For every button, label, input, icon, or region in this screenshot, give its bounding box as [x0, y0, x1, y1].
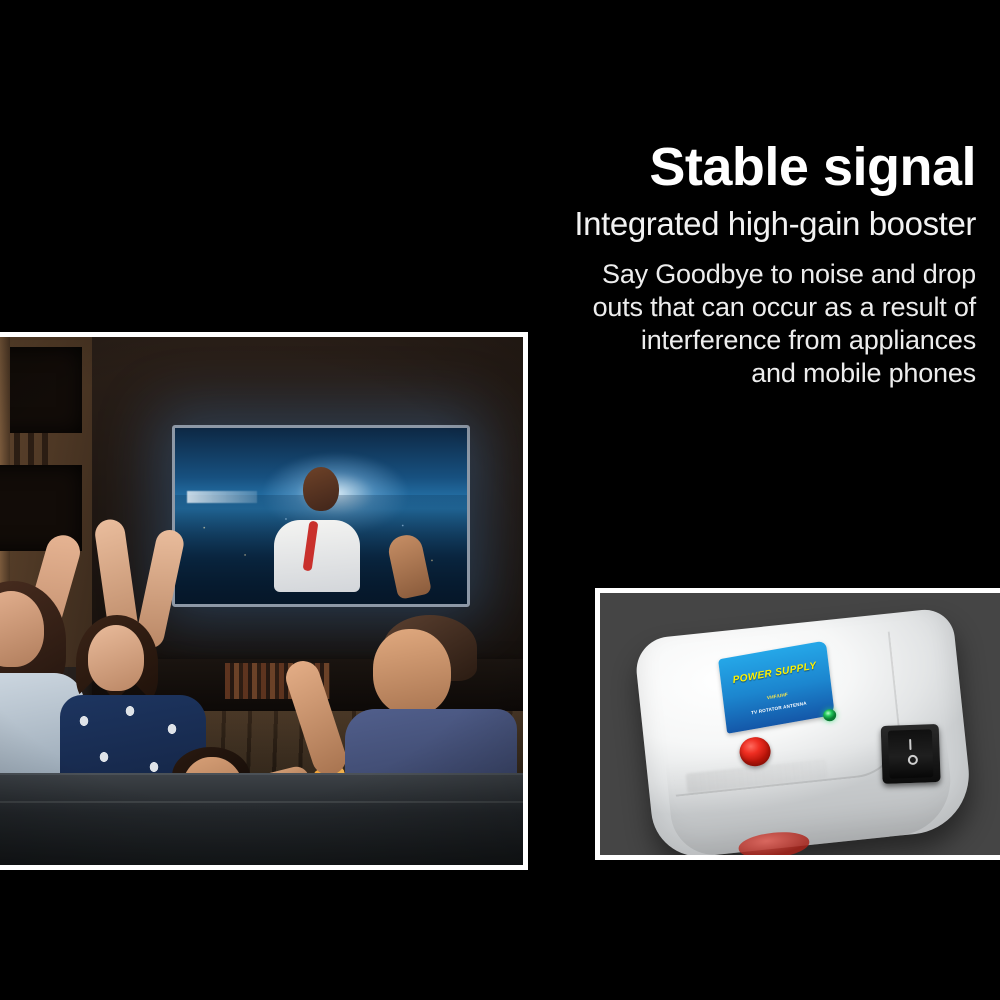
product-photo-frame: POWER SUPPLY VHF/UHF TV ROTATOR ANTENNA: [595, 588, 1000, 860]
body-line-2: outs that can occur as a result of: [476, 291, 976, 324]
power-supply-device: POWER SUPPLY VHF/UHF TV ROTATOR ANTENNA: [633, 607, 974, 860]
power-off-icon: [908, 755, 918, 765]
body-line-1: Say Goodbye to noise and drop: [476, 258, 976, 291]
body-line-4: and mobile phones: [476, 357, 976, 390]
body-line-3: interference from appliances: [476, 324, 976, 357]
lifestyle-photo-frame: [0, 332, 528, 870]
stadium-banner: [187, 491, 257, 503]
rocker-switch[interactable]: [881, 724, 941, 784]
footballer-head: [303, 467, 339, 511]
marketing-copy: Stable signal Integrated high-gain boost…: [476, 140, 976, 389]
footballer-body: [274, 520, 360, 592]
product-banner: { "banner": { "background_color": "#0000…: [0, 0, 1000, 1000]
power-on-icon: [910, 739, 912, 750]
girl-head: [88, 625, 144, 691]
rocker-switch-face: [888, 730, 933, 779]
sofa: [0, 773, 523, 865]
label-title: POWER SUPPLY: [721, 659, 830, 689]
television: [172, 425, 470, 607]
headline: Stable signal: [476, 140, 976, 195]
lifestyle-photo: [0, 337, 523, 865]
bottles-decor: [12, 433, 62, 473]
body-copy: Say Goodbye to noise and drop outs that …: [476, 258, 976, 390]
father-head: [373, 629, 451, 715]
subheadline: Integrated high-gain booster: [476, 207, 976, 242]
